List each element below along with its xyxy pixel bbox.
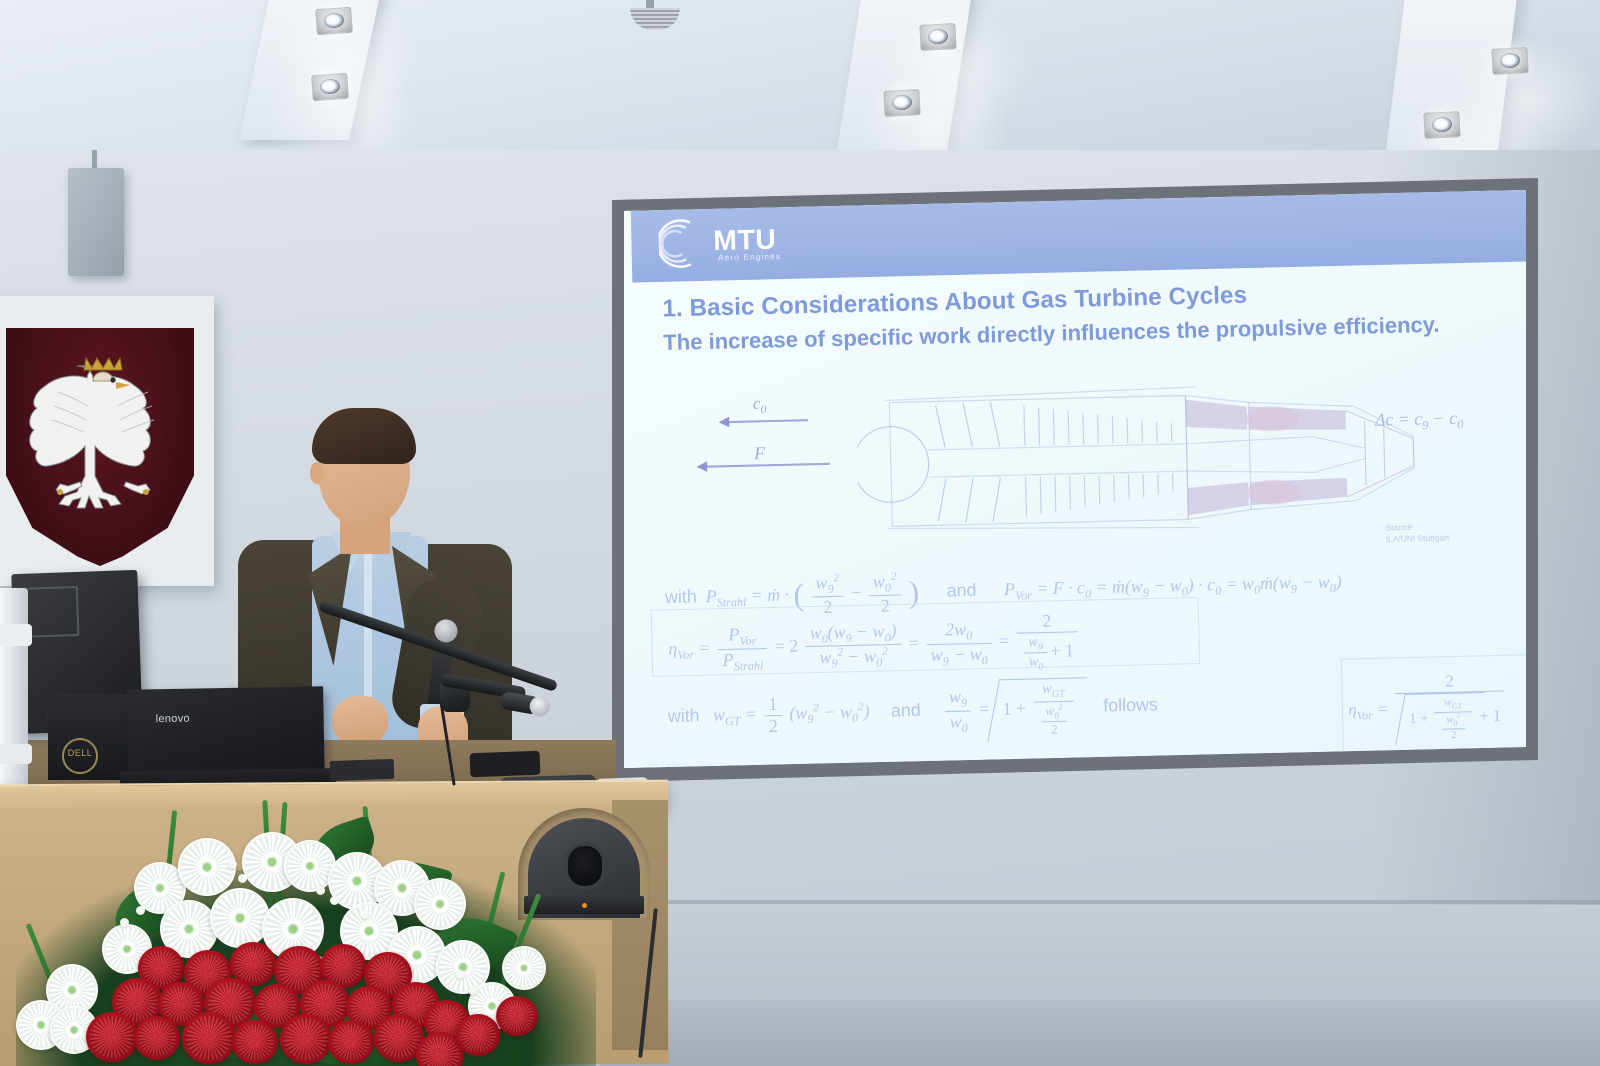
source-attribution: Source ILA/UNI Stuttgart xyxy=(1385,522,1449,546)
arrow-c0-icon xyxy=(728,419,808,423)
ceiling-spotlight-icon xyxy=(315,7,353,35)
ceiling-spotlight-icon xyxy=(1491,47,1528,75)
mtu-logo: MTU Aero Engines xyxy=(658,214,794,272)
left-hand xyxy=(332,696,388,746)
dell-logo-text: DELL xyxy=(64,748,96,758)
dell-logo: DELL xyxy=(62,738,98,774)
red-carnation xyxy=(328,1020,374,1064)
desk-item xyxy=(470,751,541,777)
red-carnation xyxy=(456,1014,500,1056)
presentation-slide: MTU Aero Engines 1. Basic Considerations… xyxy=(624,190,1526,768)
formula-and-label: and xyxy=(946,580,976,601)
hair xyxy=(312,408,416,464)
white-gerbera xyxy=(210,888,270,948)
ceiling-spotlight-icon xyxy=(311,73,349,101)
formula-and-label-2: and xyxy=(891,700,921,721)
turbofan-diagram: c0 F xyxy=(700,372,1460,558)
red-carnation xyxy=(134,1016,180,1060)
presentation-photo-scene: MTU Aero Engines 1. Basic Considerations… xyxy=(0,0,1600,1066)
wall-baseline xyxy=(640,900,1600,904)
red-carnation xyxy=(232,1020,278,1064)
ceiling-beam xyxy=(1384,0,1518,168)
formula-with-label: with xyxy=(665,586,697,607)
white-gerbera xyxy=(502,946,546,990)
vesa-mount xyxy=(24,586,80,638)
ceiling-spotlight-icon xyxy=(919,23,956,51)
pole-joint xyxy=(0,744,32,764)
red-carnation xyxy=(280,1014,332,1064)
floor xyxy=(600,1000,1600,1066)
ceiling-spotlight-icon xyxy=(883,89,920,117)
formula-row-2: ηVor = PVorPStrahl = 2 w0(w9 − w0)w92 − … xyxy=(668,610,1082,681)
formula-row-4: ηVor = 2 1 + wGTw022 + 1 xyxy=(1347,672,1509,747)
flower-arrangement xyxy=(16,800,596,1066)
label-inlet-velocity: c0 xyxy=(753,395,767,417)
arrow-f-icon xyxy=(706,463,830,468)
slide-title: 1. Basic Considerations About Gas Turbin… xyxy=(662,281,1247,323)
formula-with-label-2: with xyxy=(668,705,700,726)
red-carnation xyxy=(496,996,538,1036)
desk-item xyxy=(330,759,395,781)
wall-speaker xyxy=(68,168,124,276)
white-gerbera xyxy=(414,878,466,930)
label-thrust: F xyxy=(754,443,765,464)
smoke-detector-icon xyxy=(630,0,680,30)
white-gerbera xyxy=(178,838,236,896)
formula-follows-label: follows xyxy=(1103,695,1158,716)
lenovo-logo: lenovo xyxy=(156,713,190,726)
projection-screen: MTU Aero Engines 1. Basic Considerations… xyxy=(624,190,1526,768)
ear xyxy=(310,462,324,484)
polish-coat-of-arms xyxy=(0,296,214,586)
red-carnation xyxy=(182,1012,236,1064)
mtu-tagline: Aero Engines xyxy=(718,252,781,263)
label-delta-c: Δc = c9 − c0 xyxy=(1375,408,1464,434)
red-carnation xyxy=(86,1012,138,1062)
engine-cross-section-icon xyxy=(855,373,1434,544)
pole-joint xyxy=(0,624,32,646)
formula-row-3: with wGT = 12 (w92 − w02) and w9w0 = 1 +… xyxy=(667,676,1158,749)
white-eagle-icon xyxy=(28,340,178,516)
ceiling-spotlight-icon xyxy=(1423,111,1460,139)
